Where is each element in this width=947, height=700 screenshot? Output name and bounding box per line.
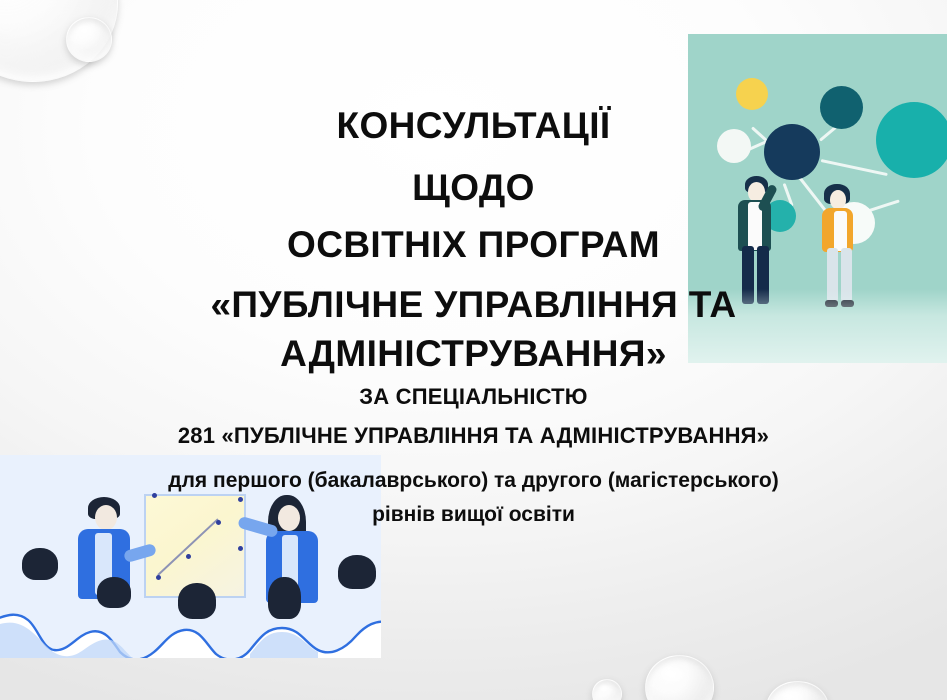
- audience-head: [22, 548, 58, 580]
- presenter-head: [95, 505, 117, 530]
- presentation-slide: КОНСУЛЬТАЦІЇ ЩОДО ОСВІТНІХ ПРОГРАМ «ПУБЛ…: [0, 0, 947, 700]
- network-node-navy: [764, 124, 820, 180]
- bubble-highlight: [76, 24, 94, 37]
- bubble-highlight: [779, 689, 805, 700]
- network-people-illustration: [688, 34, 947, 363]
- network-node-white: [717, 129, 751, 163]
- network-node-yellow: [736, 78, 768, 110]
- presenter-head: [278, 505, 300, 531]
- bubble-decoration-top-left-large: [0, 0, 118, 82]
- bubble-decoration-bottom-right-tiny: [592, 679, 622, 700]
- chart-point: [216, 520, 221, 525]
- audience-wave-shape: [0, 592, 381, 658]
- chart-point: [186, 554, 191, 559]
- trend-line: [157, 518, 218, 575]
- network-link: [821, 159, 888, 176]
- chart-point: [238, 546, 243, 551]
- chart-point: [152, 493, 157, 498]
- illustration-floor: [688, 289, 947, 363]
- bubble-decoration-top-left-small: [66, 17, 112, 62]
- person-shirt: [834, 211, 847, 251]
- subtitle-line-1: ЗА СПЕЦІАЛЬНІСТЮ: [0, 386, 947, 408]
- bubble-highlight: [599, 684, 611, 692]
- audience-head: [338, 555, 376, 589]
- chart-point: [238, 497, 243, 502]
- bubble-decoration-bottom-right-large: [645, 655, 714, 700]
- network-node-dark-teal: [820, 86, 863, 129]
- person-head: [830, 190, 846, 209]
- network-node-bright-teal: [876, 102, 947, 178]
- bubble-decoration-bottom-right-medium: [766, 681, 829, 700]
- subtitle-line-2: 281 «ПУБЛІЧНЕ УПРАВЛІННЯ ТА АДМІНІСТРУВА…: [0, 425, 947, 447]
- classroom-presentation-illustration: [0, 455, 381, 658]
- bubble-highlight: [659, 665, 687, 684]
- chart-point: [156, 575, 161, 580]
